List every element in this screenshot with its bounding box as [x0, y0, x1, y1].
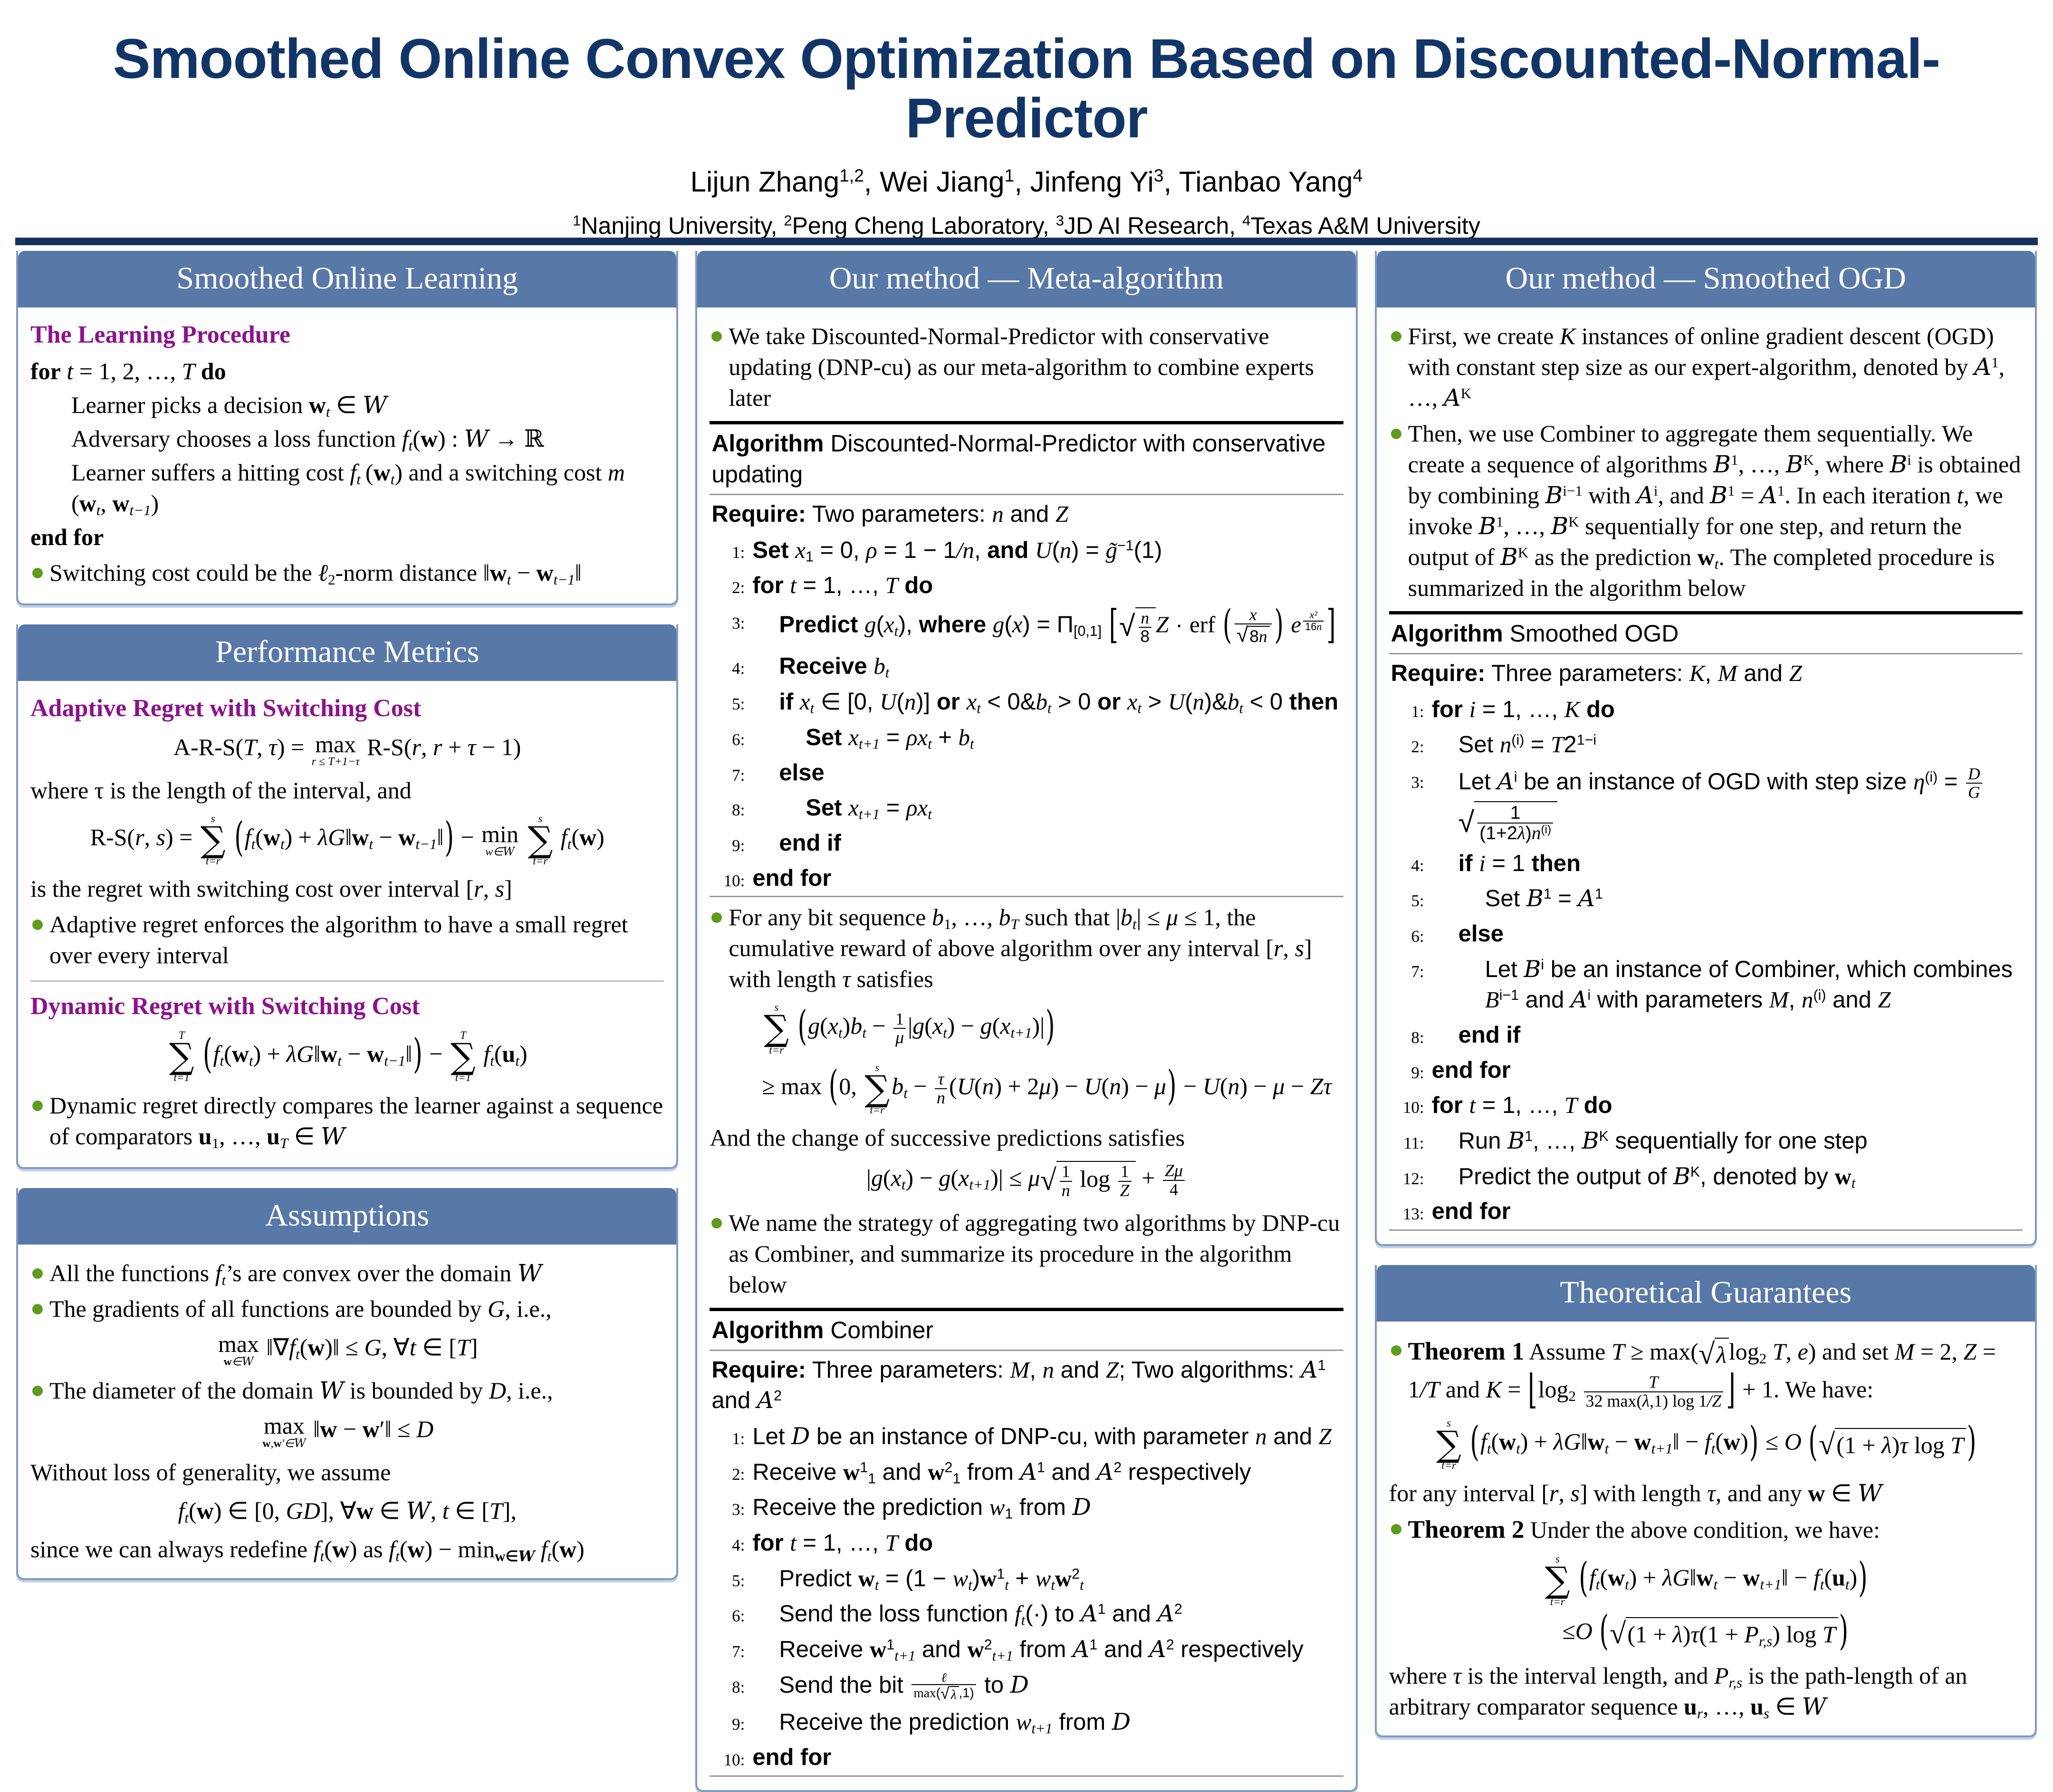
- equation-theorem2-line2: ≤O (√(1 + λ)τ(1 + Pr,s) log T): [1389, 1614, 2023, 1653]
- algorithm-step: 6:Set xt+1 = ρxt + bt: [710, 720, 1343, 756]
- step-number: 8:: [1389, 1020, 1424, 1049]
- step-number: 12:: [1389, 1161, 1424, 1190]
- step-text: Set x1 = 0, ρ = 1 − 1/n, and U(n) = g̃−1…: [745, 535, 1343, 566]
- equation-adaptive-regret: A-R-S(T, τ) = maxr ≤ T+1−τ R-S(r, r + τ …: [30, 732, 664, 767]
- step-text: for t = 1, …, T do: [745, 570, 1343, 601]
- list-item: For any bit sequence b1, …, bT such that…: [710, 902, 1343, 995]
- panel-heading: Our method — Smoothed OGD: [1377, 251, 2035, 307]
- algorithm-step: 3:Let Ai be an instance of OGD with step…: [1389, 763, 2023, 845]
- step-number: 6:: [1389, 919, 1424, 948]
- step-number: 7:: [1389, 954, 1424, 983]
- algorithm-label: Algorithm: [711, 1317, 824, 1343]
- step-number: 1:: [710, 1421, 745, 1450]
- step-number: 10:: [710, 863, 745, 892]
- panel-smoothed-ogd: Our method — Smoothed OGD First, we crea…: [1375, 251, 2037, 1246]
- left-column: Smoothed Online Learning The Learning Pr…: [16, 251, 678, 1792]
- bullet-list-bit-sequence: For any bit sequence b1, …, bT such that…: [710, 902, 1343, 995]
- list-item: First, we create K instances of online g…: [1389, 321, 2023, 413]
- panel-performance-metrics: Performance Metrics Adaptive Regret with…: [16, 624, 678, 1169]
- equation-theorem1: s∑t=r (ft(wt) + λG‖wt − wt+1‖ − ft(w)) ≤…: [1389, 1418, 2023, 1470]
- step-number: 3:: [1389, 765, 1424, 794]
- algorithm-step: 9:end for: [1389, 1053, 2023, 1088]
- step-number: 10:: [1389, 1090, 1424, 1119]
- algorithm-step: 8:Send the bit ℓmax(√λ,1) to D: [710, 1667, 1343, 1705]
- equation-cumulative-reward-1: s∑t=r (g(xt)bt − 1μ|g(xt) − g(xt+1)|): [710, 1002, 1343, 1054]
- affiliation-list: 1Nanjing University, 2Peng Cheng Laborat…: [0, 212, 2053, 240]
- step-text: for i = 1, …, K do: [1424, 694, 2023, 725]
- panel-meta-algorithm: Our method — Meta-algorithm We take Disc…: [695, 251, 1357, 1792]
- algorithm-rule-top: [710, 421, 1343, 424]
- middle-column: Our method — Meta-algorithm We take Disc…: [695, 251, 1357, 1792]
- step-text: end for: [1424, 1055, 2023, 1086]
- step-text: Predict the output of BK, denoted by wt: [1424, 1161, 2023, 1192]
- header-divider: [15, 238, 2038, 245]
- algorithm-step: 4:if i = 1 then: [1389, 846, 2023, 882]
- list-item: Theorem 2 Under the above condition, we …: [1389, 1514, 2023, 1546]
- page-title: Smoothed Online Convex Optimization Base…: [0, 29, 2053, 148]
- step-text: end for: [745, 1743, 1343, 1773]
- step-text: Set xt+1 = ρxt + bt: [745, 722, 1343, 753]
- panel-smoothed-online-learning: Smoothed Online Learning The Learning Pr…: [16, 251, 678, 605]
- algorithm-step: 12:Predict the output of BK, denoted by …: [1389, 1159, 2023, 1195]
- text-redefine: since we can always redefine ft(w) as ft…: [30, 1534, 664, 1565]
- equation-gradient-bound: maxw∈W ‖∇ft(w)‖ ≤ G, ∀t ∈ [T]: [30, 1332, 664, 1368]
- divider: [30, 980, 664, 982]
- theorem2-label: Theorem 2: [1408, 1516, 1525, 1543]
- algorithm-step: 8:Set xt+1 = ρxt: [710, 790, 1343, 826]
- bullet-list-switching-cost: Switching cost could be the ℓ2-norm dist…: [30, 557, 664, 588]
- step-text: Set xt+1 = ρxt: [745, 793, 1343, 824]
- step-number: 4:: [710, 1528, 745, 1556]
- algorithm-step: 1:Let D be an instance of DNP-cu, with p…: [710, 1419, 1343, 1455]
- step-text: Receive w11 and w21 from A1 and A2 respe…: [745, 1457, 1343, 1488]
- algorithm-step: 9:end if: [710, 826, 1343, 861]
- list-item: Dynamic regret directly compares the lea…: [30, 1090, 664, 1152]
- subheading-learning-procedure: The Learning Procedure: [30, 319, 664, 351]
- text-theorem1-after: for any interval [r, s] with length τ, a…: [1389, 1478, 2023, 1509]
- step-text: else: [1424, 919, 2023, 949]
- algorithm-step: 6:Send the loss function ft(·) to A1 and…: [710, 1596, 1343, 1632]
- step-number: 2:: [710, 1457, 745, 1485]
- step-text: Send the bit ℓmax(√λ,1) to D: [745, 1670, 1343, 1702]
- algorithm-rule-bottom: [1389, 1229, 2023, 1231]
- step-text: Let Ai be an instance of OGD with step s…: [1424, 765, 2023, 843]
- require-label: Require:: [1391, 661, 1486, 686]
- panel-assumptions: Assumptions All the functions ft’s are c…: [16, 1188, 678, 1580]
- require-label: Require:: [711, 1357, 806, 1383]
- procedure-line-end-for: end for: [30, 522, 664, 553]
- bullet-list-dnp: We take Discounted-Normal-Predictor with…: [710, 321, 1343, 413]
- panel-body: Theorem 1 Assume T ≥ max(√λlog2 T, e) an…: [1377, 1322, 2035, 1735]
- panel-theoretical-guarantees: Theoretical Guarantees Theorem 1 Assume …: [1375, 1265, 2037, 1737]
- algorithm-require: Require: Three parameters: K, M and Z: [1389, 654, 2023, 692]
- step-text: Receive bt: [745, 651, 1343, 682]
- algorithm-require: Require: Two parameters: n and Z: [710, 495, 1343, 533]
- equation-cumulative-reward-2: ≥ max (0, s∑t=rbt − τn(U(n) + 2μ) − U(n)…: [710, 1063, 1343, 1115]
- algorithm-step: 4:for t = 1, …, T do: [710, 1525, 1343, 1561]
- algorithm-combiner: Algorithm Combiner Require: Three parame…: [710, 1308, 1343, 1777]
- procedure-line-learner-picks: Learner picks a decision wt ∈ W: [71, 390, 664, 421]
- step-text: Predict g(xt), where g(x) = Π[0,1] [√n8Z…: [745, 606, 1343, 646]
- list-item: Switching cost could be the ℓ2-norm dist…: [30, 557, 664, 588]
- text-successive-predictions: And the change of successive predictions…: [710, 1122, 1343, 1153]
- step-text: end if: [1424, 1020, 2023, 1051]
- theorem1-label: Theorem 1: [1408, 1338, 1525, 1365]
- algorithm-step: 10:for t = 1, …, T do: [1389, 1088, 2023, 1123]
- poster-columns: Smoothed Online Learning The Learning Pr…: [0, 251, 2053, 1792]
- bullet-list-assumptions: All the functions ft’s are convex over t…: [30, 1258, 664, 1324]
- step-number: 3:: [710, 606, 745, 634]
- step-text: else: [745, 758, 1343, 788]
- list-item: Adaptive regret enforces the algorithm t…: [30, 909, 664, 971]
- step-number: 7:: [710, 1634, 745, 1663]
- algorithm-step: 7:Let Bi be an instance of Combiner, whi…: [1389, 952, 2023, 1018]
- subheading-adaptive-regret: Adaptive Regret with Switching Cost: [30, 692, 664, 725]
- equation-range: ft(w) ∈ [0, GD], ∀w ∈ W, t ∈ [T],: [30, 1495, 664, 1526]
- panel-body: Adaptive Regret with Switching Cost A-R-…: [18, 681, 676, 1168]
- step-number: 4:: [710, 651, 745, 680]
- panel-body: First, we create K instances of online g…: [1377, 307, 2035, 1244]
- panel-body: The Learning Procedure for t = 1, 2, …, …: [18, 307, 676, 604]
- bullet-list-diameter: The diameter of the domain W is bounded …: [30, 1375, 664, 1406]
- algorithm-step: 7:Receive w1t+1 and w2t+1 from A1 and A2…: [710, 1632, 1343, 1667]
- list-item: All the functions ft’s are convex over t…: [30, 1258, 664, 1289]
- step-text: end for: [1424, 1197, 2023, 1227]
- step-number: 11:: [1389, 1126, 1424, 1154]
- step-number: 1:: [1389, 694, 1424, 723]
- subheading-dynamic-regret: Dynamic Regret with Switching Cost: [30, 990, 664, 1023]
- panel-heading: Our method — Meta-algorithm: [697, 251, 1355, 307]
- bullet-list-theorem2: Theorem 2 Under the above condition, we …: [1389, 1514, 2023, 1546]
- equation-dynamic-regret: T∑t=1 (ft(wt) + λG‖wt − wt−1‖) − T∑t=1 f…: [30, 1030, 664, 1083]
- step-text: if xt ∈ [0, U(n)] or xt < 0&bt > 0 or xt…: [745, 687, 1343, 718]
- step-number: 6:: [710, 722, 745, 751]
- algorithm-title: Algorithm Discounted-Normal-Predictor wi…: [710, 424, 1343, 494]
- list-item: Theorem 1 Assume T ≥ max(√λlog2 T, e) an…: [1389, 1335, 2023, 1410]
- algorithm-title: Algorithm Smoothed OGD: [1389, 614, 2023, 653]
- algorithm-label: Algorithm: [711, 430, 824, 457]
- step-text: end if: [745, 828, 1343, 859]
- step-text: Run B1, …, BK sequentially for one step: [1424, 1126, 2023, 1157]
- step-text: Receive the prediction w1 from D: [745, 1492, 1343, 1523]
- bullet-list-dynamic: Dynamic regret directly compares the lea…: [30, 1090, 664, 1152]
- algorithm-rule-bottom: [710, 1775, 1343, 1777]
- step-number: 6:: [710, 1599, 745, 1627]
- algorithm-rule-bottom: [710, 896, 1343, 897]
- algorithm-step: 8:end if: [1389, 1018, 2023, 1053]
- poster-header: Smoothed Online Convex Optimization Base…: [0, 0, 2053, 240]
- equation-theorem2-line1: s∑t=r (ft(wt) + λG‖wt − wt+1‖ − ft(ut)): [1389, 1554, 2023, 1606]
- list-item: Then, we use Combiner to aggregate them …: [1389, 418, 2023, 604]
- procedure-line-costs: Learner suffers a hitting cost ft (wt) a…: [71, 457, 664, 519]
- step-text: Set n(i) = T21−i: [1424, 729, 2023, 760]
- algorithm-step: 3:Predict g(xt), where g(x) = Π[0,1] [√n…: [710, 604, 1343, 649]
- panel-heading: Performance Metrics: [18, 624, 676, 681]
- algorithm-step: 3:Receive the prediction w1 from D: [710, 1490, 1343, 1525]
- text-theorem2-after: where τ is the interval length, and Pr,s…: [1389, 1660, 2023, 1722]
- algorithm-smoothed-ogd: Algorithm Smoothed OGD Require: Three pa…: [1389, 611, 2023, 1231]
- algorithm-step: 2:Set n(i) = T21−i: [1389, 727, 2023, 763]
- step-number: 2:: [710, 570, 745, 599]
- step-text: end for: [745, 863, 1343, 894]
- algorithm-require: Require: Three parameters: M, n and Z; T…: [710, 1351, 1343, 1419]
- algorithm-step: 5:if xt ∈ [0, U(n)] or xt < 0&bt > 0 or …: [710, 684, 1343, 720]
- panel-heading: Assumptions: [18, 1188, 676, 1245]
- list-item: We name the strategy of aggregating two …: [710, 1207, 1343, 1300]
- equation-diameter-bound: maxw,w′∈W ‖w − w′‖ ≤ D: [30, 1414, 664, 1449]
- algorithm-step: 2:Receive w11 and w21 from A1 and A2 res…: [710, 1455, 1343, 1490]
- step-number: 8:: [710, 1670, 745, 1698]
- algorithm-rule-top: [1389, 611, 2023, 614]
- step-number: 1:: [710, 535, 745, 564]
- step-text: Receive w1t+1 and w2t+1 from A1 and A2 r…: [745, 1634, 1343, 1665]
- step-number: 10:: [710, 1743, 745, 1771]
- theorem2-text: Under the above condition, we have:: [1530, 1516, 1880, 1543]
- algorithm-step: 1:for i = 1, …, K do: [1389, 692, 2023, 728]
- bullet-list-ogd: First, we create K instances of online g…: [1389, 321, 2023, 604]
- procedure-line-adversary: Adversary chooses a loss function ft(w) …: [71, 423, 664, 454]
- equation-regret-switching: R-S(r, s) = s∑t=r (ft(wt) + λG‖wt − wt−1…: [30, 814, 664, 866]
- step-number: 9:: [710, 1707, 745, 1735]
- step-number: 5:: [710, 687, 745, 715]
- require-label: Require:: [711, 501, 806, 527]
- algorithm-name: Combiner: [830, 1317, 933, 1343]
- panel-body: We take Discounted-Normal-Predictor with…: [697, 307, 1355, 1790]
- step-text: Let Bi be an instance of Combiner, which…: [1424, 954, 2023, 1016]
- algorithm-name: Smoothed OGD: [1510, 620, 1679, 647]
- step-text: for t = 1, …, T do: [745, 1528, 1343, 1559]
- step-number: 5:: [710, 1563, 745, 1592]
- step-number: 8:: [710, 793, 745, 821]
- bullet-list-combiner-naming: We name the strategy of aggregating two …: [710, 1207, 1343, 1300]
- step-text: Let D be an instance of DNP-cu, with par…: [745, 1421, 1343, 1452]
- algorithm-step: 1:Set x1 = 0, ρ = 1 − 1/n, and U(n) = g̃…: [710, 533, 1343, 568]
- step-number: 5:: [1389, 883, 1424, 912]
- require-text: Three parameters: K, M and Z: [1491, 661, 1802, 686]
- step-text: for t = 1, …, T do: [1424, 1090, 2023, 1121]
- step-number: 2:: [1389, 729, 1424, 758]
- step-text: if i = 1 then: [1424, 848, 2023, 879]
- algorithm-step: 9:Receive the prediction wt+1 from D: [710, 1705, 1343, 1740]
- list-item: We take Discounted-Normal-Predictor with…: [710, 321, 1343, 413]
- panel-body: All the functions ft’s are convex over t…: [18, 1245, 676, 1578]
- poster-root: Smoothed Online Convex Optimization Base…: [0, 0, 2053, 1369]
- text-regret-interval: is the regret with switching cost over i…: [30, 873, 664, 904]
- text-interval-length: where τ is the length of the interval, a…: [30, 775, 664, 806]
- list-item: The gradients of all functions are bound…: [30, 1294, 664, 1324]
- algorithm-step: 4:Receive bt: [710, 649, 1343, 684]
- algorithm-rule-top: [710, 1308, 1343, 1311]
- procedure-line-for: for t = 1, 2, …, T do: [30, 356, 664, 387]
- step-number: 7:: [710, 758, 745, 786]
- step-text: Set B1 = A1: [1424, 883, 2023, 914]
- algorithm-step: 5:Predict wt = (1 − wt)w1t + wtw2t: [710, 1561, 1343, 1597]
- require-text: Two parameters: n and Z: [812, 501, 1068, 527]
- step-text: Receive the prediction wt+1 from D: [745, 1707, 1343, 1738]
- algorithm-step: 6:else: [1389, 917, 2023, 952]
- panel-heading: Theoretical Guarantees: [1377, 1265, 2035, 1322]
- bullet-list-theorem1: Theorem 1 Assume T ≥ max(√λlog2 T, e) an…: [1389, 1335, 2023, 1410]
- step-number: 4:: [1389, 848, 1424, 877]
- algorithm-step: 5:Set B1 = A1: [1389, 881, 2023, 917]
- algorithm-step: 13:end for: [1389, 1194, 2023, 1229]
- list-item: The diameter of the domain W is bounded …: [30, 1375, 664, 1406]
- step-number: 13:: [1389, 1197, 1424, 1225]
- algorithm-step: 11:Run B1, …, BK sequentially for one st…: [1389, 1123, 2023, 1159]
- step-text: Predict wt = (1 − wt)w1t + wtw2t: [745, 1563, 1343, 1594]
- author-list: Lijun Zhang1,2, Wei Jiang1, Jinfeng Yi3,…: [0, 165, 2053, 198]
- step-number: 9:: [1389, 1055, 1424, 1084]
- panel-heading: Smoothed Online Learning: [18, 251, 676, 307]
- step-number: 3:: [710, 1492, 745, 1521]
- algorithm-step: 2:for t = 1, …, T do: [710, 568, 1343, 604]
- text-wlog: Without loss of generality, we assume: [30, 1457, 664, 1488]
- step-text: Send the loss function ft(·) to A1 and A…: [745, 1599, 1343, 1629]
- equation-successive-change: |g(xt) − g(xt+1)| ≤ μ√1n log 1Z + Zμ4: [710, 1161, 1343, 1200]
- algorithm-dnp-cu: Algorithm Discounted-Normal-Predictor wi…: [710, 421, 1343, 897]
- algorithm-title: Algorithm Combiner: [710, 1311, 1343, 1350]
- bullet-list-adaptive: Adaptive regret enforces the algorithm t…: [30, 909, 664, 971]
- step-number: 9:: [710, 828, 745, 857]
- right-column: Our method — Smoothed OGD First, we crea…: [1375, 251, 2037, 1792]
- algorithm-label: Algorithm: [1391, 620, 1503, 647]
- algorithm-step: 10:end for: [710, 1740, 1343, 1775]
- algorithm-step: 10:end for: [710, 861, 1343, 896]
- algorithm-step: 7:else: [710, 756, 1343, 791]
